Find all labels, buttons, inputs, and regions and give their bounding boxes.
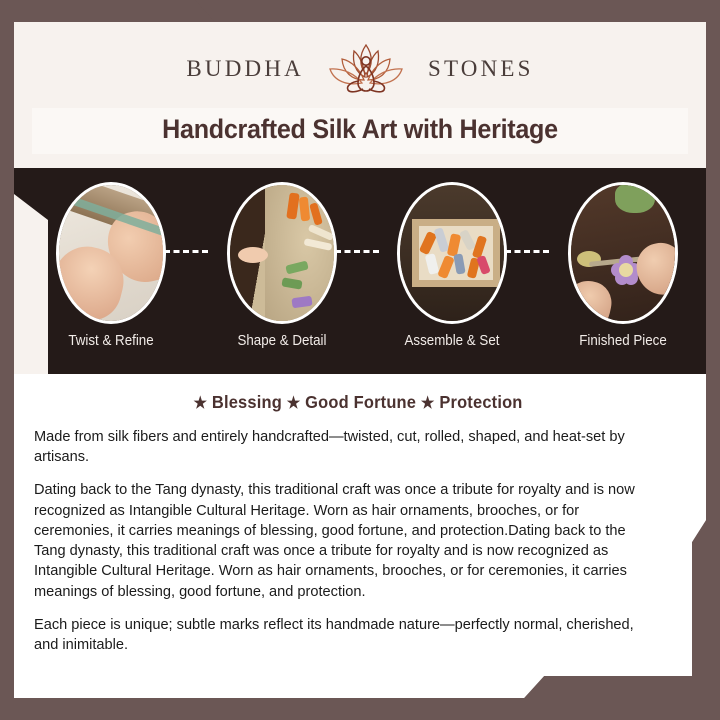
process-step-4: Finished Piece [548, 182, 698, 349]
lotus-meditation-icon [318, 39, 414, 99]
title-band: Handcrafted Silk Art with Heritage [32, 108, 688, 154]
content-body: ★ Blessing ★ Good Fortune ★ Protection M… [14, 374, 706, 698]
blessing-item-1: Blessing [212, 392, 282, 412]
blessing-line: ★ Blessing ★ Good Fortune ★ Protection [53, 392, 662, 413]
process-step-label: Assemble & Set [383, 333, 521, 349]
page-card: BUDDHA [14, 22, 706, 698]
star-icon: ★ [287, 395, 301, 412]
process-strip: Twist & Refine [0, 168, 720, 374]
star-icon: ★ [421, 395, 435, 412]
description-paragraph-2: Dating back to the Tang dynasty, this tr… [34, 480, 656, 601]
process-step-2: Shape & Detail [207, 182, 357, 349]
process-step-label: Shape & Detail [213, 333, 351, 349]
photo-twist-refine [56, 182, 166, 324]
top-brown-bar [0, 0, 720, 22]
header: BUDDHA [14, 22, 706, 154]
blessing-item-2: Good Fortune [305, 392, 416, 412]
page-title: Handcrafted Silk Art with Heritage [55, 114, 665, 145]
dashed-line-connector [335, 250, 379, 253]
brand-logo: BUDDHA [14, 38, 706, 100]
photo-assemble-set [397, 182, 507, 324]
photo-shape-detail [227, 182, 337, 324]
description-paragraph-3: Each piece is unique; subtle marks refle… [34, 615, 656, 655]
process-step-1: Twist & Refine [36, 182, 186, 349]
dashed-line-connector [164, 250, 208, 253]
blessing-item-3: Protection [439, 392, 522, 412]
process-step-3: Assemble & Set [377, 182, 527, 349]
outer-frame: BUDDHA [0, 0, 720, 720]
star-icon: ★ [193, 395, 207, 412]
brand-word-right: STONES [428, 56, 534, 82]
process-step-label: Twist & Refine [42, 333, 180, 349]
dashed-line-connector [505, 250, 549, 253]
process-step-label: Finished Piece [554, 333, 692, 349]
brand-word-left: BUDDHA [186, 56, 304, 82]
description-paragraph-1: Made from silk fibers and entirely handc… [34, 427, 656, 467]
photo-finished-piece [568, 182, 678, 324]
